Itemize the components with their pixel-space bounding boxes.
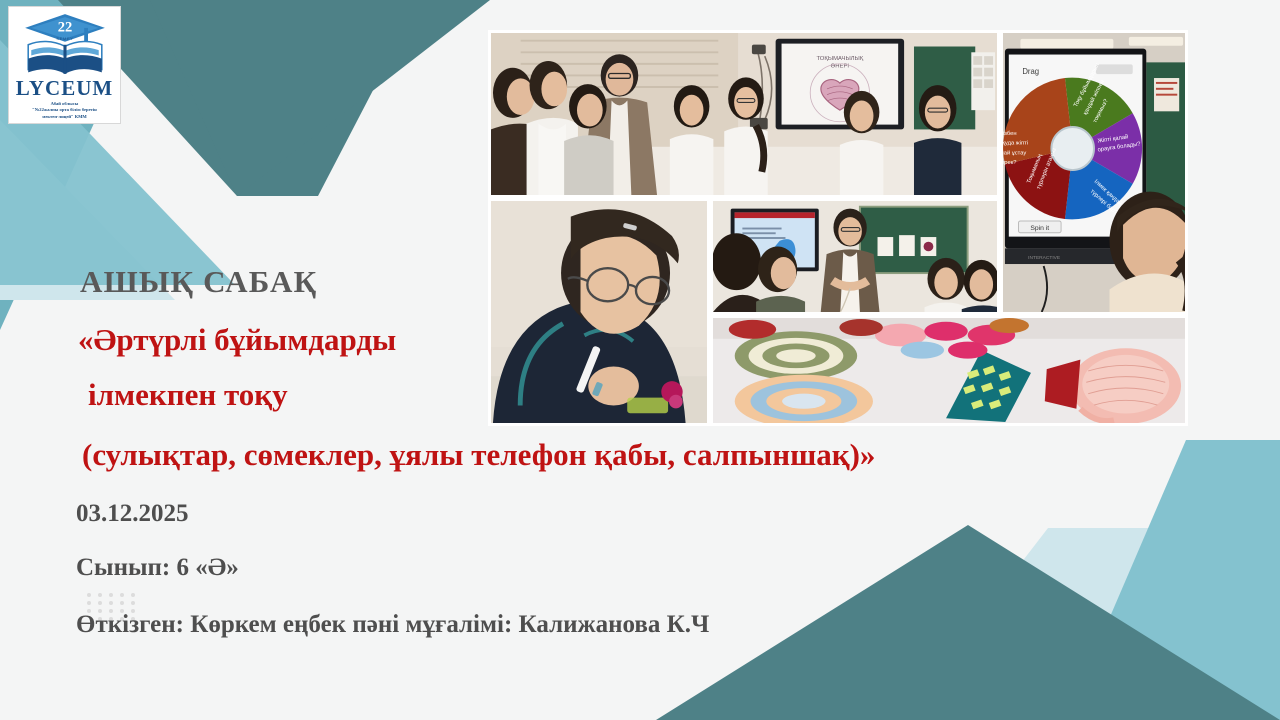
lesson-class: Сынып: 6 «Ә» (76, 554, 239, 582)
lesson-title-line-2: ілмекпен тоқу (88, 377, 288, 413)
svg-text:22: 22 (57, 20, 72, 36)
lyceum-logo: 22 SEMEY LYCEUM Абай облысы "№22жалпы ор… (8, 6, 121, 124)
svg-text:Spin it: Spin it (1030, 225, 1049, 232)
photo-crochet-items (710, 315, 1188, 426)
slide-heading: АШЫҚ САБАҚ (80, 264, 317, 300)
svg-text:INTERACTIVE: INTERACTIVE (1028, 255, 1061, 261)
lyceum-school-line2: мектеп-лицей" КММ (13, 114, 117, 121)
svg-text:оқуда жіпті: оқуда жіпті (1003, 141, 1028, 147)
lyceum-school-line1: "№22жалпы орта білім беретін (13, 107, 117, 114)
svg-text:ерек?: ерек? (1003, 160, 1017, 166)
lyceum-emblem-icon: 22 SEMEY (19, 11, 111, 77)
photo-classroom-discussion: ТОҚЫМАЧЫЛЫҚ ӨНЕРІ (488, 30, 1000, 198)
lyceum-wordmark: LYCEUM (16, 78, 113, 99)
svg-text:алай ұстау: алай ұстау (1003, 149, 1026, 156)
svg-text:Drag: Drag (1022, 67, 1039, 76)
photo-teacher-demonstration (710, 198, 1000, 315)
lesson-teacher: Өткізген: Көркем еңбек пәні мұғалімі: Ка… (76, 611, 709, 639)
svg-text:ТОҚЫМАЧЫЛЫҚ: ТОҚЫМАЧЫЛЫҚ (816, 56, 863, 62)
presentation-slide: 22 SEMEY LYCEUM Абай облысы "№22жалпы ор… (0, 0, 1280, 720)
svg-text:SEMEY: SEMEY (56, 37, 73, 41)
photo-spin-wheel-board: Drag Тоқу бұйымдарын қандай жіппен тоқим… (1000, 30, 1188, 315)
photo-collage: ТОҚЫМАЧЫЛЫҚ ӨНЕРІ (488, 30, 1188, 426)
lesson-title-line-1: «Әртүрлі бұйымдарды (78, 322, 396, 358)
lesson-date: 03.12.2025 (76, 500, 189, 528)
photo-student-writing (488, 198, 710, 426)
svg-text:ізбен: ізбен (1003, 131, 1017, 137)
lesson-title-line-3: (сулықтар, сөмеклер, ұялы телефон қабы, … (82, 437, 875, 473)
